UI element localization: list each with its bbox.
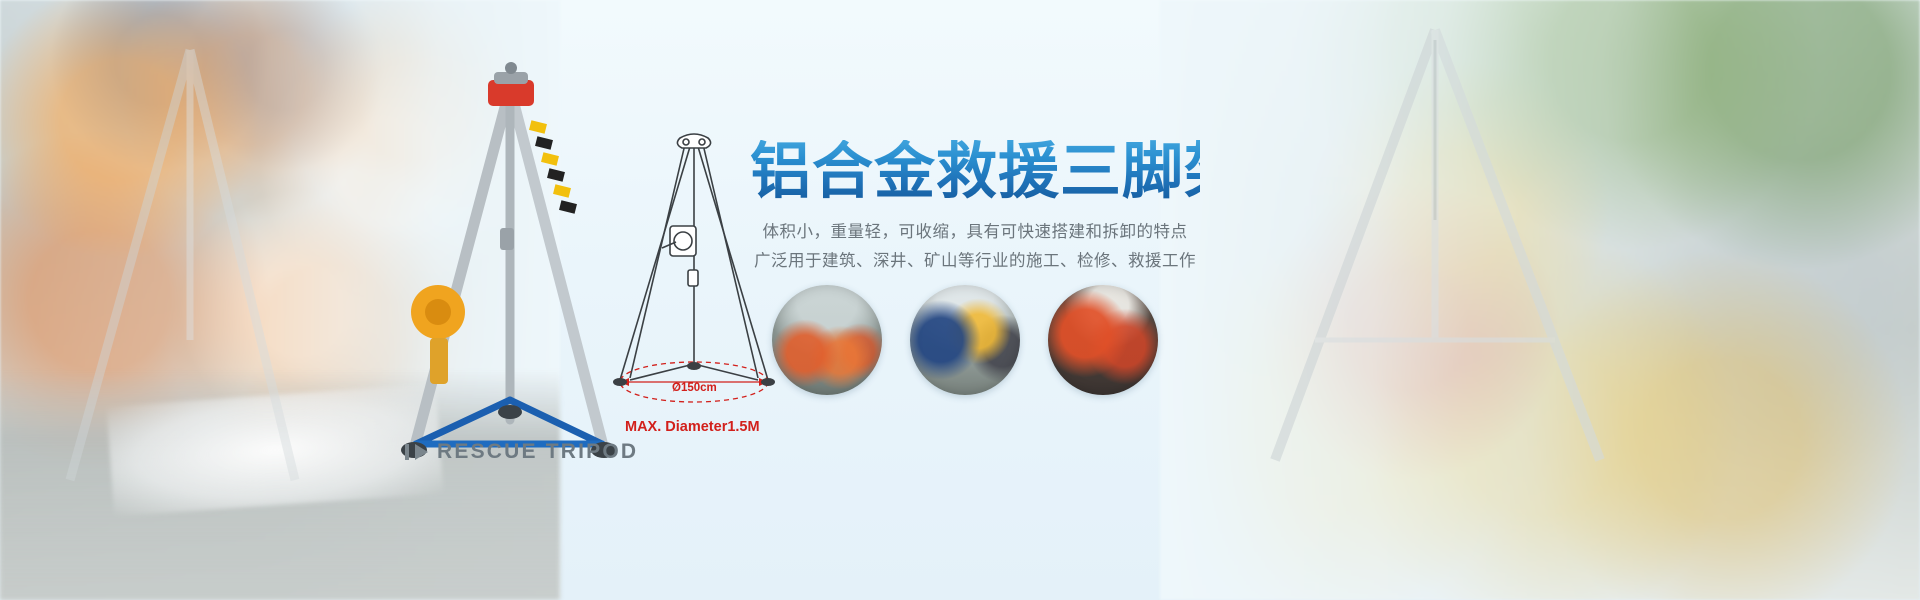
banner-headline: 铝合金救援三脚架 bbox=[750, 140, 1200, 204]
thumbnail-rescue-team-at-manhole[interactable] bbox=[772, 285, 882, 395]
thumbnail-row bbox=[772, 285, 1158, 395]
left-photo-tripod-silhouette bbox=[40, 40, 340, 500]
subtitle-line-1: 体积小，重量轻，可收缩，具有可快速搭建和拆卸的特点 bbox=[750, 218, 1200, 247]
thumbnail-rescuer-signaling-in-shaft[interactable] bbox=[1048, 285, 1158, 395]
rescue-tripod-caption: RESCUE TRIPOD bbox=[405, 440, 638, 464]
right-photo-tripod-silhouette bbox=[1220, 10, 1640, 480]
max-diameter-label: MAX. Diameter1.5M bbox=[625, 419, 760, 435]
play-triangle-icon bbox=[415, 444, 428, 460]
subtitle-line-2: 广泛用于建筑、深井、矿山等行业的施工、检修、救援工作 bbox=[750, 247, 1200, 276]
banner-subtitle: 体积小，重量轻，可收缩，具有可快速搭建和拆卸的特点 广泛用于建筑、深井、矿山等行… bbox=[750, 218, 1200, 276]
banner-text-block: 铝合金救援三脚架 体积小，重量轻，可收缩，具有可快速搭建和拆卸的特点 广泛用于建… bbox=[750, 140, 1200, 276]
diameter-annotation: Ø150cm bbox=[672, 382, 717, 394]
rescue-tripod-label: RESCUE TRIPOD bbox=[437, 440, 638, 464]
thumbnail-workers-with-equipment[interactable] bbox=[910, 285, 1020, 395]
caption-bar-icon bbox=[405, 444, 409, 460]
product-banner: Ø150cm MAX. Diameter1.5M RESCUE TRIPOD 铝… bbox=[0, 0, 1920, 600]
